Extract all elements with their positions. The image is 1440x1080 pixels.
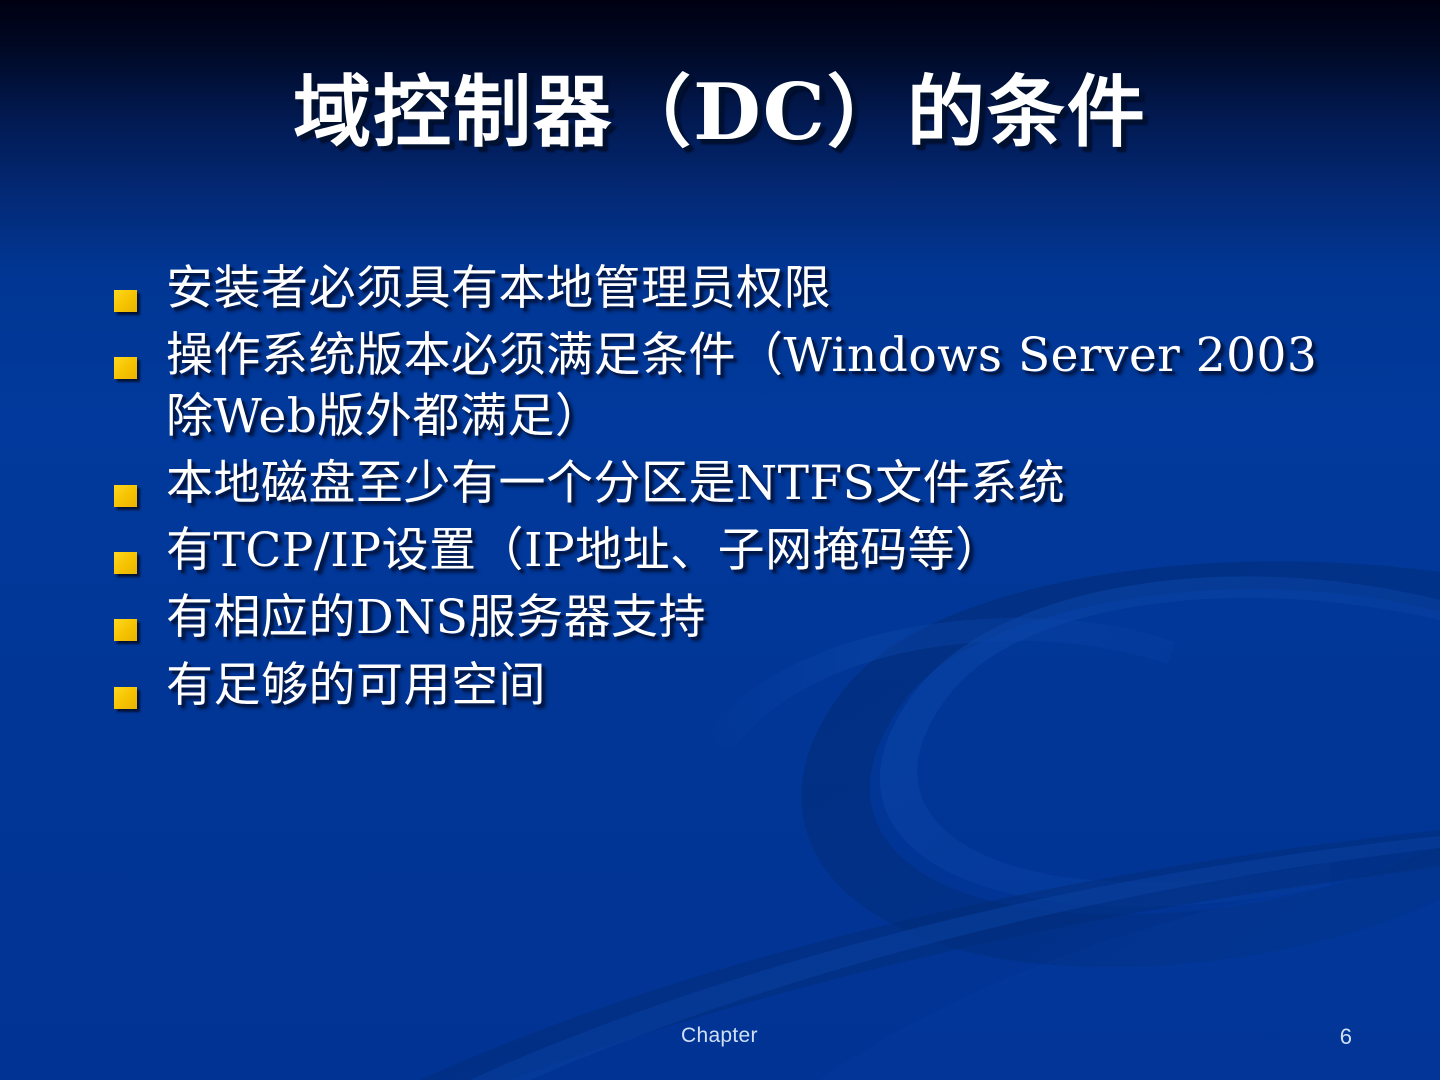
list-item-label: 本地磁盘至少有一个分区是NTFS文件系统 xyxy=(166,453,1364,514)
square-bullet-icon xyxy=(114,619,137,641)
list-item-label: 有TCP/IP设置（IP地址、子网掩码等） xyxy=(166,520,1364,581)
list-item: 本地磁盘至少有一个分区是NTFS文件系统 xyxy=(104,453,1364,514)
presentation-slide: 域控制器（DC）的条件 安装者必须具有本地管理员权限 操作系统版本必须满足条件（… xyxy=(0,0,1440,1080)
list-item: 有足够的可用空间 xyxy=(104,655,1364,716)
list-item-label: 操作系统版本必须满足条件（Windows Server 2003除Web版外都满… xyxy=(166,325,1364,447)
list-item-label: 有足够的可用空间 xyxy=(166,655,1364,716)
list-item-label: 安装者必须具有本地管理员权限 xyxy=(166,258,1364,319)
list-item: 操作系统版本必须满足条件（Windows Server 2003除Web版外都满… xyxy=(104,325,1364,447)
slide-footer: Chapter 6 xyxy=(0,1024,1440,1058)
square-bullet-icon xyxy=(114,687,137,709)
slide-title-text: 域控制器（DC）的条件 xyxy=(293,72,1147,155)
square-bullet-icon xyxy=(114,485,137,507)
square-bullet-icon xyxy=(114,552,137,574)
footer-label: Chapter xyxy=(681,1024,758,1048)
square-bullet-icon xyxy=(114,357,137,379)
list-item: 有TCP/IP设置（IP地址、子网掩码等） xyxy=(104,520,1364,581)
bullet-list: 安装者必须具有本地管理员权限 操作系统版本必须满足条件（Windows Serv… xyxy=(104,258,1364,722)
slide-page-number: 6 xyxy=(1340,1024,1352,1050)
square-bullet-icon xyxy=(114,290,137,312)
list-item-label: 有相应的DNS服务器支持 xyxy=(166,587,1364,648)
list-item: 安装者必须具有本地管理员权限 xyxy=(104,258,1364,319)
list-item: 有相应的DNS服务器支持 xyxy=(104,587,1364,648)
slide-title: 域控制器（DC）的条件 xyxy=(0,72,1440,155)
